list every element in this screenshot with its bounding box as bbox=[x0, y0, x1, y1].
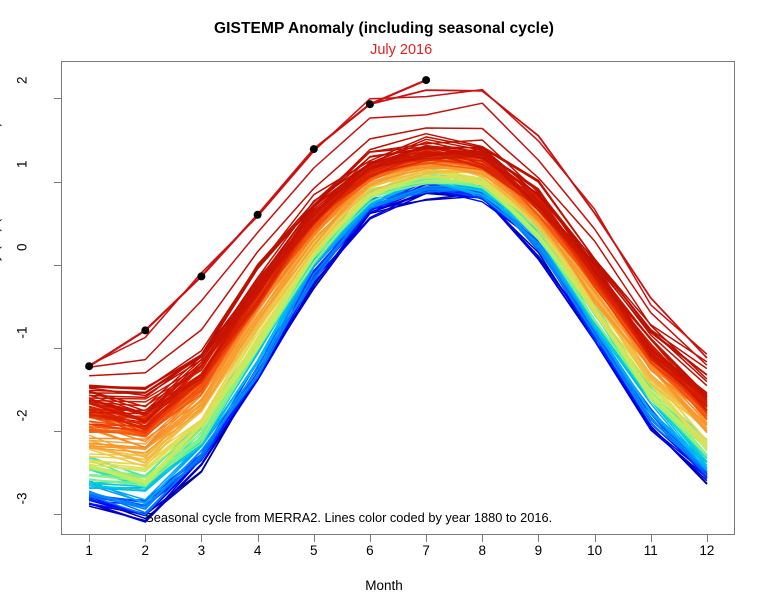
x-axis-label: Month bbox=[0, 578, 768, 593]
y-tick-mark bbox=[54, 348, 61, 349]
x-tick-label: 5 bbox=[294, 543, 334, 558]
x-tick-label: 7 bbox=[406, 543, 446, 558]
y-tick-mark bbox=[54, 182, 61, 183]
chart-root: GISTEMP Anomaly (including seasonal cycl… bbox=[0, 0, 768, 614]
x-tick-mark bbox=[651, 535, 652, 542]
x-tick-label: 4 bbox=[238, 543, 278, 558]
x-tick-label: 10 bbox=[575, 543, 615, 558]
y-tick-label: 0 bbox=[15, 243, 30, 283]
y-tick-mark bbox=[54, 514, 61, 515]
x-tick-mark bbox=[258, 535, 259, 542]
x-tick-label: 8 bbox=[462, 543, 502, 558]
y-tick-label: 1 bbox=[15, 160, 30, 200]
y-tick-label: 2 bbox=[15, 77, 30, 117]
x-tick-label: 9 bbox=[518, 543, 558, 558]
y-tick-mark bbox=[54, 265, 61, 266]
x-tick-mark bbox=[482, 535, 483, 542]
y-axis-label: Anomaly (ºC) (w.r.t 1980-2015) bbox=[0, 105, 2, 325]
x-tick-label: 3 bbox=[181, 543, 221, 558]
plot-frame bbox=[61, 61, 735, 535]
x-tick-label: 1 bbox=[69, 543, 109, 558]
annotation-july-2016: July 2016 bbox=[370, 42, 432, 58]
x-tick-label: 6 bbox=[350, 543, 390, 558]
x-tick-mark bbox=[145, 535, 146, 542]
y-tick-label: -1 bbox=[15, 326, 30, 366]
chart-title: GISTEMP Anomaly (including seasonal cycl… bbox=[0, 20, 768, 38]
x-tick-mark bbox=[538, 535, 539, 542]
x-tick-mark bbox=[595, 535, 596, 542]
x-tick-mark bbox=[89, 535, 90, 542]
x-tick-label: 12 bbox=[687, 543, 727, 558]
x-tick-mark bbox=[314, 535, 315, 542]
x-tick-mark bbox=[370, 535, 371, 542]
y-tick-label: -2 bbox=[15, 410, 30, 450]
y-tick-mark bbox=[54, 98, 61, 99]
x-tick-label: 11 bbox=[631, 543, 671, 558]
chart-caption: Seasonal cycle from MERRA2. Lines color … bbox=[145, 510, 552, 525]
x-tick-mark bbox=[426, 535, 427, 542]
y-tick-label: -3 bbox=[15, 493, 30, 533]
x-tick-label: 2 bbox=[125, 543, 165, 558]
x-tick-mark bbox=[707, 535, 708, 542]
x-tick-mark bbox=[201, 535, 202, 542]
plot-area bbox=[61, 61, 735, 535]
y-tick-mark bbox=[54, 431, 61, 432]
